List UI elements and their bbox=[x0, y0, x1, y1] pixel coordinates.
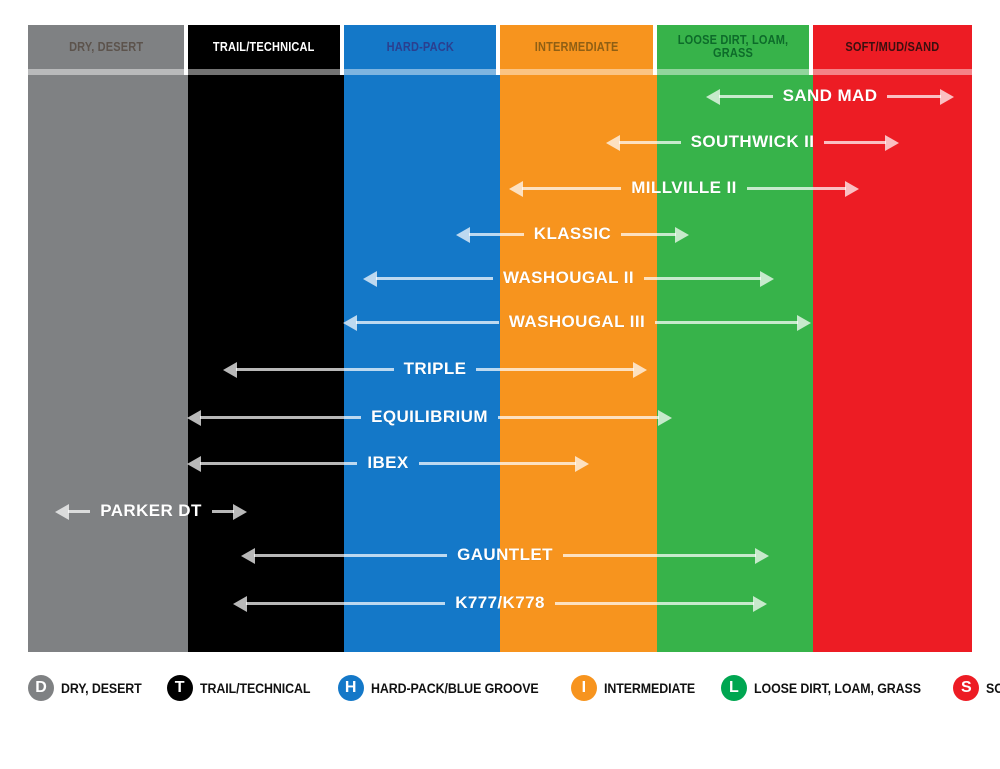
terrain-header-label: DRY, DESERT bbox=[69, 41, 143, 54]
range-arrow-left bbox=[246, 602, 445, 605]
terrain-header-label: INTERMEDIATE bbox=[535, 41, 619, 54]
tire-model-label: EQUILIBRIUM bbox=[371, 404, 488, 430]
legend-label: HARD-PACK/BLUE GROOVE bbox=[371, 681, 539, 696]
legend-item[interactable]: SSOFT/MUD/SAND bbox=[953, 675, 1000, 701]
range-arrow-right bbox=[476, 368, 634, 371]
range-arrow-left bbox=[200, 462, 357, 465]
terrain-header-row: DRY, DESERTTRAIL/TECHNICALHARD-PACKINTER… bbox=[28, 25, 972, 69]
range-arrow-right bbox=[655, 321, 798, 324]
terrain-header-cell: SOFT/MUD/SAND bbox=[813, 25, 972, 69]
range-arrow-left bbox=[356, 321, 499, 324]
range-arrow-right bbox=[621, 233, 676, 236]
tire-model-label: SOUTHWICK II bbox=[691, 129, 815, 155]
tire-range-row: K777/K778 bbox=[28, 590, 972, 616]
tire-model-label: WASHOUGAL II bbox=[503, 265, 634, 291]
tire-model-label: K777/K778 bbox=[455, 590, 545, 616]
range-arrow-left bbox=[236, 368, 394, 371]
range-arrow-right bbox=[644, 277, 761, 280]
tire-model-label: KLASSIC bbox=[534, 221, 611, 247]
legend-badge-icon: L bbox=[721, 675, 747, 701]
legend-badge-icon: S bbox=[953, 675, 979, 701]
range-arrow-right bbox=[824, 141, 886, 144]
legend-item[interactable]: LLOOSE DIRT, LOAM, GRASS bbox=[721, 675, 935, 701]
range-arrow-right bbox=[747, 187, 846, 190]
legend-badge-icon: T bbox=[167, 675, 193, 701]
legend-label: SOFT/MUD/SAND bbox=[986, 681, 1000, 696]
range-arrow-left bbox=[68, 510, 90, 513]
tire-model-label: IBEX bbox=[367, 450, 408, 476]
tire-model-label: PARKER DT bbox=[100, 498, 202, 524]
tire-range-row: IBEX bbox=[28, 450, 972, 476]
range-arrow-right bbox=[419, 462, 576, 465]
legend-badge-icon: H bbox=[338, 675, 364, 701]
range-arrow-left bbox=[522, 187, 621, 190]
legend-badge-icon: D bbox=[28, 675, 54, 701]
terrain-header-cell: LOOSE DIRT, LOAM, GRASS bbox=[657, 25, 809, 69]
range-arrow-right bbox=[887, 95, 941, 98]
range-arrow-right bbox=[212, 510, 234, 513]
legend-item[interactable]: IINTERMEDIATE bbox=[571, 675, 703, 701]
legend-label: DRY, DESERT bbox=[61, 681, 142, 696]
range-arrow-right bbox=[563, 554, 756, 557]
tire-range-row: KLASSIC bbox=[28, 221, 972, 247]
range-arrow-right bbox=[555, 602, 754, 605]
legend-item[interactable]: TTRAIL/TECHNICAL bbox=[167, 675, 320, 701]
tire-model-label: MILLVILLE II bbox=[631, 175, 737, 201]
terrain-header-label: LOOSE DIRT, LOAM, GRASS bbox=[668, 34, 798, 60]
tire-range-row: SAND MAD bbox=[28, 83, 972, 109]
range-arrow-left bbox=[719, 95, 773, 98]
range-arrow-right bbox=[498, 416, 659, 419]
terrain-header-cell: INTERMEDIATE bbox=[500, 25, 653, 69]
terrain-header-label: SOFT/MUD/SAND bbox=[846, 41, 940, 54]
tire-range-row: PARKER DT bbox=[28, 498, 972, 524]
tire-range-row: WASHOUGAL II bbox=[28, 265, 972, 291]
tire-model-label: WASHOUGAL III bbox=[509, 309, 645, 335]
tire-model-label: TRIPLE bbox=[404, 356, 467, 382]
tire-range-rows: SAND MADSOUTHWICK IIMILLVILLE IIKLASSICW… bbox=[28, 75, 972, 652]
tire-range-row: WASHOUGAL III bbox=[28, 309, 972, 335]
range-arrow-left bbox=[376, 277, 493, 280]
terrain-header-cell: DRY, DESERT bbox=[28, 25, 184, 69]
chart-plot-area: SAND MADSOUTHWICK IIMILLVILLE IIKLASSICW… bbox=[28, 75, 972, 652]
legend-item[interactable]: DDRY, DESERT bbox=[28, 675, 149, 701]
range-arrow-left bbox=[254, 554, 447, 557]
terrain-header-cell: HARD-PACK bbox=[344, 25, 496, 69]
tire-range-row: EQUILIBRIUM bbox=[28, 404, 972, 430]
legend-badge-icon: I bbox=[571, 675, 597, 701]
legend-item[interactable]: HHARD-PACK/BLUE GROOVE bbox=[338, 675, 553, 701]
tire-range-row: TRIPLE bbox=[28, 356, 972, 382]
tire-range-row: GAUNTLET bbox=[28, 542, 972, 568]
terrain-header-label: TRAIL/TECHNICAL bbox=[213, 41, 315, 54]
legend-label: LOOSE DIRT, LOAM, GRASS bbox=[754, 681, 921, 696]
range-arrow-left bbox=[469, 233, 524, 236]
terrain-legend: DDRY, DESERTTTRAIL/TECHNICALHHARD-PACK/B… bbox=[28, 668, 972, 708]
tire-model-label: SAND MAD bbox=[783, 83, 878, 109]
terrain-chart-root: DRY, DESERTTRAIL/TECHNICALHARD-PACKINTER… bbox=[0, 0, 1000, 769]
range-arrow-left bbox=[200, 416, 361, 419]
legend-label: TRAIL/TECHNICAL bbox=[200, 681, 310, 696]
tire-model-label: GAUNTLET bbox=[457, 542, 553, 568]
tire-range-row: SOUTHWICK II bbox=[28, 129, 972, 155]
range-arrow-left bbox=[619, 141, 681, 144]
tire-range-row: MILLVILLE II bbox=[28, 175, 972, 201]
legend-label: INTERMEDIATE bbox=[604, 681, 695, 696]
terrain-header-label: HARD-PACK bbox=[386, 41, 453, 54]
terrain-header-cell: TRAIL/TECHNICAL bbox=[188, 25, 340, 69]
